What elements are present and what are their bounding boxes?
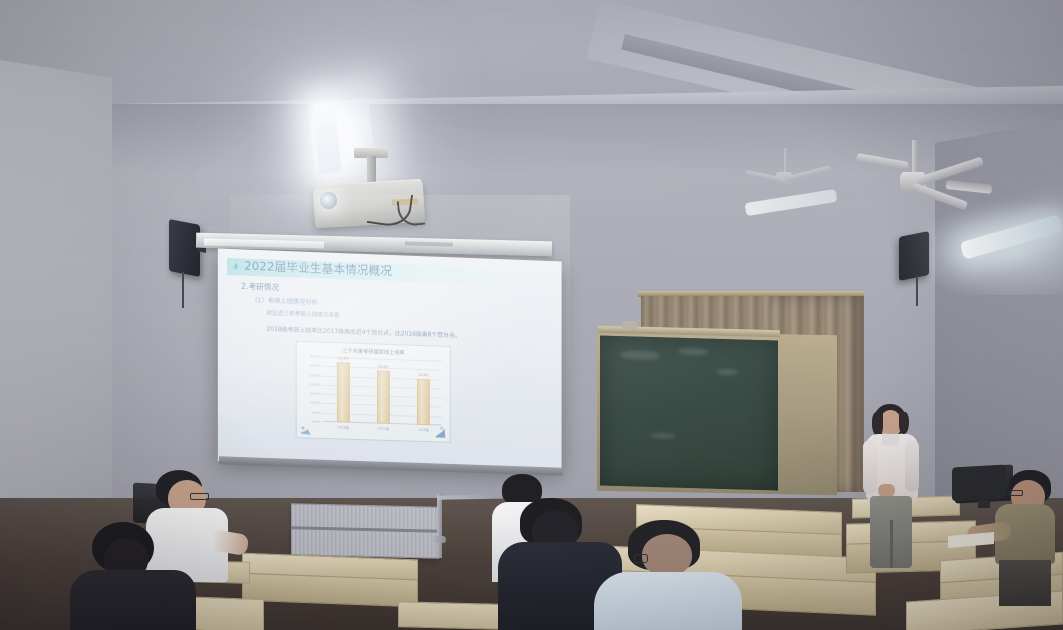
chart-ytick: 25.00% (310, 373, 321, 377)
chart-xtick: 2017届 (366, 425, 400, 431)
chart-ytick: 5.00% (312, 410, 321, 414)
decoration-icon (433, 425, 447, 438)
presenter (856, 404, 928, 564)
presenter-hair-side (872, 412, 883, 436)
presenter-hair-side (899, 412, 909, 434)
left-wall (0, 60, 112, 558)
chart-bar: 28.8% 2017届 (377, 370, 390, 424)
attendee-trousers (999, 560, 1051, 606)
chart-xtick: 2018届 (326, 424, 360, 430)
slide-content: 2022届毕业生基本情况概况 2.考研情况 （1）考研上线情况分析 对比近三年考… (224, 253, 556, 465)
slide-body-line-1: 对比近三年考研上线情况来看 (266, 309, 339, 320)
attendee-front-left (70, 522, 202, 630)
chart-bar: 32.6% 2018届 (337, 362, 350, 423)
chart-bar-value: 24.6% (406, 373, 440, 378)
attendee-shirt (70, 570, 196, 630)
chair-back (952, 465, 1006, 502)
glasses-icon (190, 493, 209, 500)
projection-screen[interactable]: 2022届毕业生基本情况概况 2.考研情况 （1）考研上线情况分析 对比近三年考… (218, 248, 562, 470)
attendee-front-center (588, 520, 748, 630)
presenter-arm-right (905, 440, 919, 492)
chart-ytick: 35.00% (310, 354, 321, 358)
chart-ytick: 10.00% (310, 401, 321, 405)
speaker-wire-left (182, 272, 184, 308)
chart-bar: 24.6% 2016届 (417, 379, 430, 425)
slide-section-heading: 2.考研情况 (241, 281, 279, 293)
projector-lens-icon (320, 192, 337, 209)
presenter-arm-left (863, 440, 877, 494)
blackboard (600, 336, 778, 491)
glasses-icon (1009, 490, 1023, 496)
slide-canvas: 2022届毕业生基本情况概况 2.考研情况 （1）考研上线情况分析 对比近三年考… (218, 248, 562, 470)
wall-speaker-right (899, 231, 929, 281)
presenter-collar (882, 433, 900, 445)
speaker-wire-right (916, 276, 918, 306)
attendee-shirt (594, 572, 742, 630)
chart-plot-area: 35.00% 30.00% 25.00% 20.00% 15.00% 10.00… (323, 357, 442, 426)
chart-bar-value: 32.6% (326, 355, 360, 360)
classroom-scene: 2022届毕业生基本情况概况 2.考研情况 （1）考研上线情况分析 对比近三年考… (0, 0, 1063, 630)
glasses-icon (634, 554, 648, 563)
chalk-box[interactable] (622, 321, 637, 330)
slide-subsection-heading: （1）考研上线情况分析 (251, 295, 317, 306)
chart-ytick: 15.00% (310, 392, 321, 396)
attendee-head (642, 534, 692, 576)
presenter-trouser-split (890, 520, 893, 568)
chart-ytick: 30.00% (310, 364, 321, 368)
radiator-pipe-vertical (437, 494, 442, 558)
chart-ytick: 0.00% (312, 420, 321, 424)
chart-ytick: 20.00% (310, 382, 321, 386)
decoration-icon (299, 422, 313, 435)
slide-chart: 三个年度考研国家线上线率 35.00% 30.00% 25.00% 2 (296, 341, 451, 443)
radiator-valve (432, 536, 446, 543)
slide-body-line-2: 2018级考研上线率比2017级高出近4个百分点，比2016级高8个百分点。 (266, 324, 460, 340)
wall-speaker-left (169, 219, 200, 277)
leaf-icon (231, 262, 240, 271)
